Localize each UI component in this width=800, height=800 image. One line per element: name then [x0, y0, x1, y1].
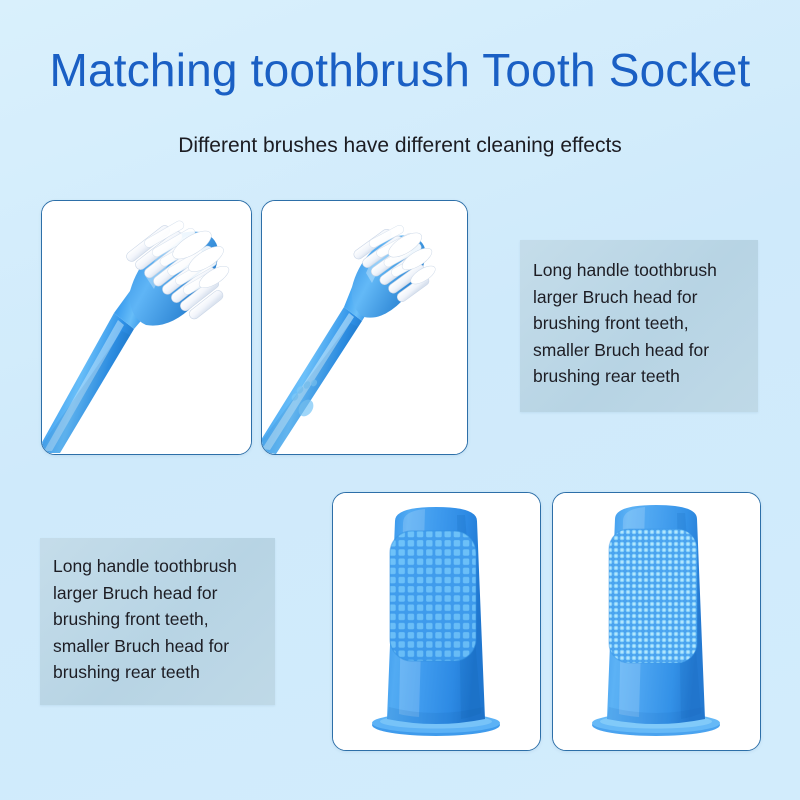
- finger-brush-fine-illustration: [553, 493, 760, 750]
- card-large-brush-head: [41, 200, 252, 455]
- product-photo-large-brush: [42, 201, 251, 454]
- card-finger-brush-fine: [552, 492, 761, 751]
- product-photo-finger-brush-coarse: [333, 493, 540, 750]
- bristle-pad-fine: [609, 529, 697, 663]
- infographic-root: Matching toothbrush Tooth Socket Differe…: [0, 0, 800, 800]
- card-small-brush-head: [261, 200, 468, 455]
- panel-right-text: Long handle toothbrush larger Bruch head…: [533, 257, 748, 390]
- product-photo-small-brush: [262, 201, 467, 454]
- panel-right-description: Long handle toothbrush larger Bruch head…: [520, 240, 758, 412]
- page-title: Matching toothbrush Tooth Socket: [0, 40, 800, 100]
- finger-brush-coarse-illustration: [333, 493, 540, 750]
- card-finger-brush-coarse: [332, 492, 541, 751]
- toothbrush-small-head-illustration: [262, 201, 467, 454]
- toothbrush-large-head-illustration: [42, 201, 251, 454]
- panel-left-description: Long handle toothbrush larger Bruch head…: [40, 538, 275, 705]
- product-photo-finger-brush-fine: [553, 493, 760, 750]
- panel-left-text: Long handle toothbrush larger Bruch head…: [53, 553, 265, 686]
- page-subtitle: Different brushes have different cleanin…: [0, 131, 800, 161]
